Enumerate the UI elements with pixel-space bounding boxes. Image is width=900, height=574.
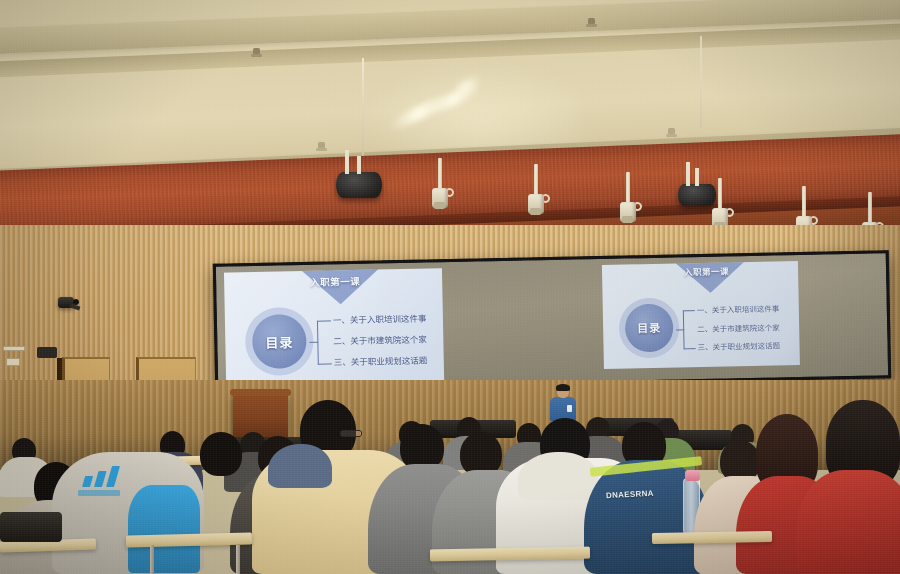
spotlight-pole: [438, 158, 442, 192]
adidas-stripe: [82, 476, 93, 487]
adidas-stripe: [94, 471, 107, 487]
spotlight-pole: [534, 164, 538, 198]
audience-shoulders: [796, 470, 900, 574]
desk-leg: [150, 545, 154, 574]
slide-title: 入职第一课: [310, 274, 360, 289]
slide-bullet: 三、关于职业规划这话题: [334, 355, 428, 369]
student-desk: [652, 531, 772, 544]
desk-leg: [236, 545, 240, 574]
projector-mount: [686, 162, 690, 186]
projector-mount: [345, 150, 349, 174]
adidas-wordmark: [78, 490, 120, 496]
screen-support-wire: [700, 36, 702, 128]
ceiling-sprinkler: [588, 18, 595, 27]
spotlight-pole: [802, 186, 806, 220]
auditorium-chair: [0, 512, 62, 542]
wall-switch[interactable]: [6, 358, 20, 366]
ceiling-sprinkler: [253, 48, 260, 57]
screen-support-wire: [362, 58, 364, 156]
slide-bullet: 二、关于市建筑院这个家: [333, 334, 427, 348]
wall-speaker: [37, 347, 57, 358]
projected-slide-left: 入职第一课 目录 一、关于入职培训这件事 二、关于市建筑院这个家 三、关于职业规…: [224, 268, 444, 384]
audience-shoulders: [128, 485, 200, 573]
projection-screen[interactable]: 入职第一课 目录 一、关于入职培训这件事 二、关于市建筑院这个家 三、关于职业规…: [213, 250, 891, 392]
slide-connector-bracket: [683, 310, 696, 349]
ceiling-projector: [336, 172, 382, 198]
presenter-hair: [556, 384, 570, 391]
projected-slide-right: 入职第一课 目录 一、关于入职培训这件事 二、关于市建筑院这个家 三、关于职业规…: [602, 261, 800, 369]
jacket-hood: [268, 444, 332, 488]
spotlight-pole: [718, 178, 722, 212]
podium-top: [230, 389, 291, 396]
ceiling-sprinkler: [318, 142, 325, 151]
slide-bullet-list: 一、关于入职培训这件事 二、关于市建筑院这个家 三、关于职业规划这话题: [333, 313, 428, 369]
slide-bullet-list: 一、关于入职培训这件事 二、关于市建筑院这个家 三、关于职业规划这话题: [697, 303, 780, 353]
spotlight-pole: [626, 172, 630, 206]
spotlight-lens: [622, 216, 633, 223]
slide-title: 入职第一课: [684, 265, 729, 278]
ceiling-projector: [678, 184, 716, 206]
spotlight-lens: [530, 208, 541, 215]
slide-bullet: 一、关于入职培训这件事: [697, 303, 780, 316]
eyeglasses: [340, 430, 362, 437]
slide-bullet: 二、关于市建筑院这个家: [697, 322, 780, 335]
spotlight-lens: [434, 202, 445, 209]
slide-bullet: 三、关于职业规划这话题: [697, 340, 780, 353]
adidas-stripe: [106, 466, 120, 487]
presenter-badge: [567, 405, 572, 412]
lecture-hall-photo: 入职第一课 目录 一、关于入职培训这件事 二、关于市建筑院这个家 三、关于职业规…: [0, 0, 900, 574]
wall-control-panel[interactable]: [3, 346, 25, 351]
spotlight-pole: [868, 192, 872, 226]
bottle-cap: [685, 470, 700, 481]
presenter-at-podium: [550, 385, 576, 419]
wooden-podium: [233, 393, 288, 439]
slide-bullet: 一、关于入职培训这件事: [333, 313, 427, 327]
audience-head: [200, 432, 242, 476]
projector-mount: [357, 156, 361, 174]
slide-connector-bracket: [317, 320, 332, 364]
ceiling-sprinkler: [668, 128, 675, 137]
adidas-logo: [78, 465, 120, 487]
projector-mount: [695, 168, 699, 186]
